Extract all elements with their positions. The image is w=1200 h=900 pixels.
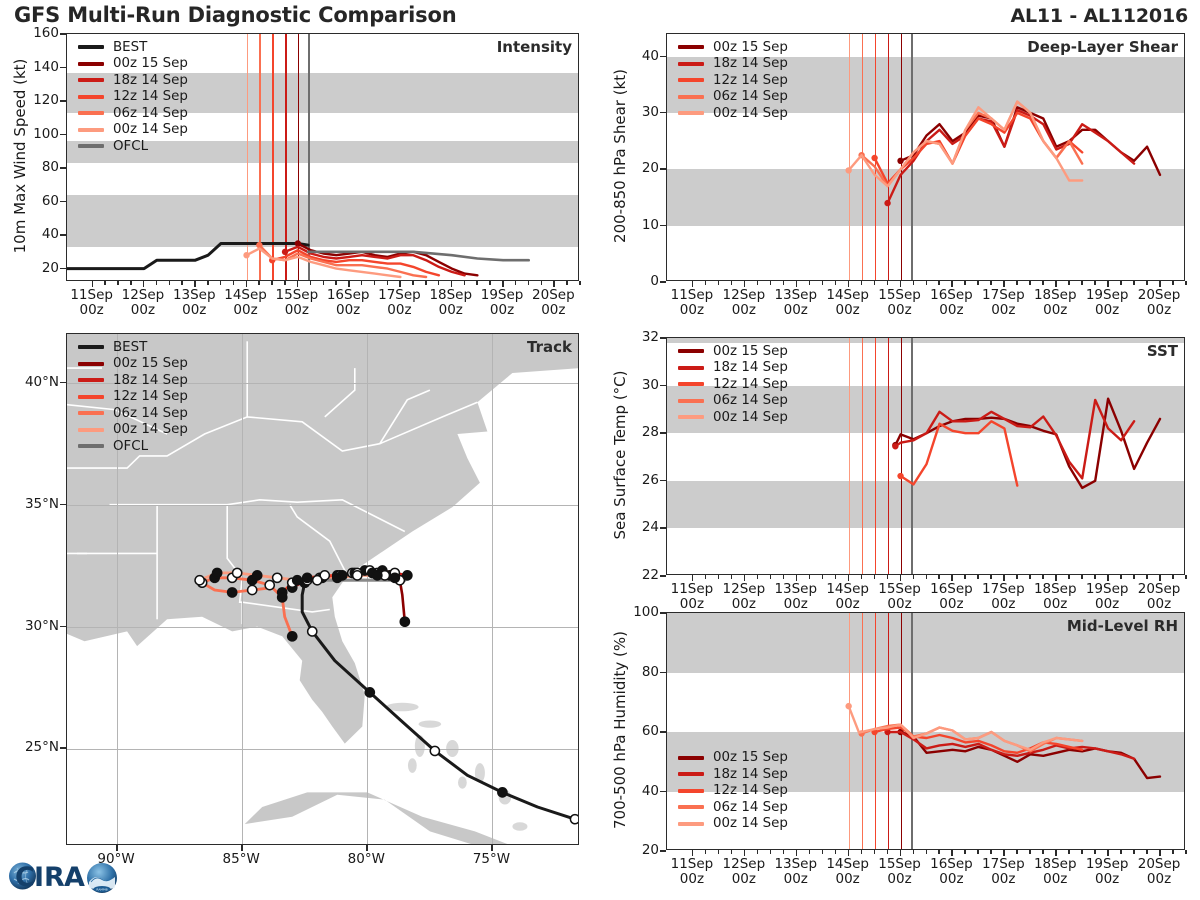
x-axis-minor-tick — [1016, 281, 1018, 285]
legend-label: 00z 14 Sep — [713, 106, 788, 121]
latitude-label: 30°N — [25, 618, 59, 634]
x-axis-hour-label: 00z — [1034, 597, 1077, 612]
series-line — [895, 400, 1134, 479]
x-axis-minor-tick — [783, 575, 785, 579]
legend-label: 00z 14 Sep — [713, 816, 788, 831]
series-line — [259, 245, 426, 277]
track-point-00z — [373, 571, 382, 580]
x-axis-minor-tick — [1029, 575, 1031, 579]
x-axis-tick-label: 12Sep00z — [723, 288, 766, 318]
x-axis-minor-tick — [464, 281, 466, 285]
x-axis-minor-tick — [977, 850, 979, 854]
x-axis-minor-tick — [887, 281, 889, 285]
y-axis-tick — [660, 612, 666, 614]
x-axis-minor-tick — [770, 281, 772, 285]
legend-color-swatch — [78, 362, 104, 366]
x-axis-tick — [692, 850, 694, 856]
y-axis-tick-label: 20 — [642, 160, 659, 176]
x-axis-minor-tick — [718, 850, 720, 854]
x-axis-minor-tick — [874, 850, 876, 854]
x-axis-date-label: 13Sep — [774, 857, 817, 872]
legend-label: 18z 14 Sep — [113, 373, 188, 388]
y-axis-tick — [660, 337, 666, 339]
x-axis-minor-tick — [1133, 850, 1135, 854]
x-axis-hour-label: 00z — [1086, 303, 1129, 318]
x-axis-tick — [900, 575, 902, 581]
x-axis-date-label: 13Sep — [774, 582, 817, 597]
x-axis-minor-tick — [258, 281, 260, 285]
x-axis-tick-label: 17Sep00z — [982, 857, 1025, 887]
x-axis-tick-label: 15Sep00z — [878, 857, 921, 887]
legend-item: BEST — [78, 39, 188, 56]
latitude-gridline — [67, 383, 578, 384]
series-layer — [667, 34, 1185, 281]
legend-color-swatch — [678, 382, 704, 386]
svg-text:A: A — [64, 862, 85, 893]
x-axis-tick — [1003, 281, 1005, 287]
x-axis-tick — [553, 281, 555, 287]
track-point-12z — [353, 571, 362, 580]
y-axis-tick-label: 80 — [42, 159, 59, 175]
x-axis-tick-label: 18Sep00z — [1034, 582, 1077, 612]
series-start-marker — [871, 155, 877, 161]
bahamas-island — [419, 720, 442, 727]
legend-color-swatch — [678, 399, 704, 403]
series-line — [308, 252, 529, 260]
legend-item: 12z 14 Sep — [78, 389, 188, 406]
page-title: GFS Multi-Run Diagnostic Comparison — [14, 3, 456, 27]
x-axis-hour-label: 00z — [1034, 872, 1077, 887]
x-axis-tick — [399, 281, 401, 287]
x-axis-minor-tick — [1068, 850, 1070, 854]
state-border — [380, 390, 430, 444]
x-axis-tick-label: 20Sep00z — [1138, 288, 1181, 318]
x-axis-minor-tick — [1120, 575, 1122, 579]
chart-legend: BEST00z 15 Sep18z 14 Sep12z 14 Sep06z 14… — [78, 339, 188, 455]
x-axis-tick — [1159, 575, 1161, 581]
x-axis-minor-tick — [705, 575, 707, 579]
state-border — [67, 402, 477, 468]
y-axis-tick-label: 100 — [33, 126, 59, 142]
state-border — [325, 368, 355, 417]
x-axis-tick-label: 15Sep00z — [878, 288, 921, 318]
y-axis-tick-label: 20 — [42, 260, 59, 276]
x-axis-tick — [744, 575, 746, 581]
x-axis-hour-label: 00z — [930, 303, 973, 318]
y-axis-tick — [660, 575, 666, 577]
longitude-gridline — [117, 334, 118, 844]
legend-item: 00z 15 Sep — [678, 39, 788, 56]
forecast-track-line — [292, 571, 407, 588]
x-axis-tick — [951, 850, 953, 856]
track-point-00z — [400, 617, 409, 626]
init-time-line — [888, 338, 890, 574]
track-point-12z — [335, 571, 344, 580]
x-axis-minor-tick — [1146, 575, 1148, 579]
forecast-track-line — [282, 573, 395, 593]
x-axis-hour-label: 00z — [774, 303, 817, 318]
x-axis-hour-label: 00z — [1138, 597, 1181, 612]
track-point-00z — [350, 568, 359, 577]
legend-color-swatch — [678, 805, 704, 809]
x-axis-minor-tick — [926, 575, 928, 579]
shear-panel-title: Deep-Layer Shear — [1027, 38, 1178, 56]
intensity-band — [67, 195, 578, 247]
x-axis-date-label: 12Sep — [723, 288, 766, 303]
series-line — [895, 399, 1160, 488]
svg-text:R: R — [44, 862, 65, 893]
x-axis-minor-tick — [156, 281, 158, 285]
bahamas-island — [415, 735, 425, 757]
x-axis-minor-tick — [809, 281, 811, 285]
latitude-gridline — [67, 749, 578, 750]
y-axis-tick — [660, 225, 666, 227]
legend-label: OFCL — [113, 439, 148, 454]
legend-item: 06z 14 Sep — [678, 393, 788, 410]
x-axis-tick-label: 14Sep00z — [826, 857, 869, 887]
x-axis-minor-tick — [990, 575, 992, 579]
x-axis-minor-tick — [705, 281, 707, 285]
legend-color-swatch — [678, 366, 704, 370]
x-axis-minor-tick — [476, 281, 478, 285]
x-axis-minor-tick — [310, 281, 312, 285]
x-axis-minor-tick — [990, 281, 992, 285]
legend-color-swatch — [78, 444, 104, 448]
series-line — [888, 110, 1135, 203]
x-axis-minor-tick — [1016, 575, 1018, 579]
x-axis-date-label: 14Sep — [224, 288, 267, 303]
x-axis-minor-tick — [783, 281, 785, 285]
x-axis-minor-tick — [938, 281, 940, 285]
x-axis-date-label: 13Sep — [173, 288, 216, 303]
x-axis-minor-tick — [861, 575, 863, 579]
y-axis-tick-label: 120 — [33, 92, 59, 108]
series-line — [901, 107, 1160, 175]
x-axis-tick — [1003, 575, 1005, 581]
x-axis-minor-tick — [1133, 575, 1135, 579]
panel-track: Track40°N35°N30°N25°N90°W85°W80°W75°WBES… — [0, 0, 1200, 900]
x-axis-hour-label: 00z — [671, 303, 714, 318]
series-line — [849, 102, 1083, 187]
x-axis-minor-tick — [541, 281, 543, 285]
x-axis-tick-label: 17Sep00z — [982, 582, 1025, 612]
chart-legend: 00z 15 Sep18z 14 Sep12z 14 Sep06z 14 Sep… — [678, 343, 788, 426]
x-axis-tick — [502, 281, 504, 287]
x-axis-hour-label: 00z — [878, 303, 921, 318]
x-axis-tick-label: 11Sep00z — [671, 582, 714, 612]
track-point-00z — [278, 588, 287, 597]
x-axis-tick-label: 13Sep00z — [774, 288, 817, 318]
y-axis-tick-label: 26 — [642, 472, 659, 488]
x-axis-tick — [744, 850, 746, 856]
x-axis-tick-label: 19Sep00z — [1086, 288, 1129, 318]
x-axis-minor-tick — [757, 575, 759, 579]
x-axis-tick-label: 12Sep00z — [122, 288, 165, 318]
longitude-tick — [241, 845, 243, 851]
y-axis-tick-label: 100 — [633, 604, 659, 620]
x-axis-tick-label: 16Sep00z — [930, 582, 973, 612]
y-axis-tick-label: 60 — [642, 723, 659, 739]
series-start-marker — [871, 729, 877, 735]
track-point-00z — [498, 788, 507, 797]
y-axis-tick-label: 30 — [642, 377, 659, 393]
track-point-00z — [293, 576, 302, 585]
x-axis-tick — [848, 281, 850, 287]
bahamas-island — [512, 822, 527, 831]
longitude-tick — [491, 845, 493, 851]
track-point-12z — [265, 581, 274, 590]
x-axis-tick — [92, 281, 94, 287]
track-point-00z — [288, 583, 297, 592]
track-point-00z — [368, 568, 377, 577]
series-start-marker — [858, 730, 864, 736]
x-axis-hour-label: 00z — [982, 597, 1025, 612]
x-axis-minor-tick — [528, 281, 530, 285]
x-axis-tick — [143, 281, 145, 287]
y-axis-tick-label: 30 — [642, 104, 659, 120]
init-time-line — [259, 34, 261, 280]
y-axis-tick — [60, 167, 66, 169]
series-line — [875, 113, 1083, 183]
legend-label: 18z 14 Sep — [113, 73, 188, 88]
bahamas-island — [499, 790, 512, 805]
x-axis-tick-label: 12Sep00z — [723, 857, 766, 887]
x-axis-tick-label: 18Sep00z — [429, 288, 472, 318]
x-axis-minor-tick — [731, 850, 733, 854]
state-border — [227, 505, 242, 624]
track-point-00z — [333, 571, 342, 580]
longitude-label-text: 75°W — [473, 852, 510, 867]
x-axis-tick-label: 20Sep00z — [1138, 582, 1181, 612]
series-line — [247, 249, 401, 278]
x-axis-minor-tick — [284, 281, 286, 285]
init-time-line — [298, 34, 300, 280]
intensity-band — [667, 481, 1184, 529]
x-axis-hour-label: 00z — [723, 303, 766, 318]
x-axis-tick — [900, 850, 902, 856]
longitude-gridline — [242, 334, 243, 844]
x-axis-tick — [451, 281, 453, 287]
y-axis-tick — [60, 67, 66, 69]
x-axis-minor-tick — [579, 281, 581, 285]
sst-panel-title: SST — [1147, 342, 1178, 360]
x-axis-date-label: 19Sep — [1086, 288, 1129, 303]
x-axis-minor-tick — [566, 281, 568, 285]
track-point-12z — [390, 568, 399, 577]
x-axis-date-label: 12Sep — [122, 288, 165, 303]
x-axis-tick-label: 20Sep00z — [1138, 857, 1181, 887]
y-axis-tick-label: 22 — [642, 567, 659, 583]
cuba-landmass — [245, 792, 513, 845]
x-axis-minor-tick — [770, 575, 772, 579]
x-axis-date-label: 19Sep — [1086, 582, 1129, 597]
x-axis-minor-tick — [770, 850, 772, 854]
y-axis-tick — [60, 134, 66, 136]
x-axis-date-label: 20Sep — [1138, 857, 1181, 872]
legend-color-swatch — [78, 78, 104, 82]
x-axis-tick — [951, 575, 953, 581]
series-start-marker — [884, 200, 890, 206]
x-axis-minor-tick — [964, 850, 966, 854]
track-lines-layer — [67, 334, 579, 845]
track-point-00z — [303, 573, 312, 582]
x-axis-minor-tick — [361, 281, 363, 285]
map-landmass — [67, 334, 579, 845]
init-time-line — [888, 613, 890, 849]
series-start-marker — [845, 167, 851, 173]
x-axis-date-label: 18Sep — [1034, 857, 1077, 872]
x-axis-hour-label: 00z — [122, 303, 165, 318]
longitude-tick — [366, 845, 368, 851]
x-axis-tick-label: 19Sep00z — [1086, 857, 1129, 887]
latitude-label: 40°N — [25, 374, 59, 390]
y-axis-tick — [60, 33, 66, 35]
bahamas-island — [446, 740, 459, 757]
x-axis-hour-label: 00z — [826, 872, 869, 887]
x-axis-minor-tick — [1016, 850, 1018, 854]
y-axis-tick — [660, 112, 666, 114]
x-axis-date-label: 15Sep — [878, 857, 921, 872]
init-time-line — [849, 613, 851, 849]
latitude-gridline — [67, 627, 578, 628]
x-axis-date-label: 17Sep — [982, 857, 1025, 872]
track-point-00z — [360, 566, 369, 575]
legend-color-swatch — [678, 789, 704, 793]
x-axis-tick-label: 14Sep00z — [224, 288, 267, 318]
panel-intensity: Intensity2040608010012014016010m Max Win… — [0, 0, 1200, 900]
x-axis-minor-tick — [964, 281, 966, 285]
x-axis-minor-tick — [822, 575, 824, 579]
x-axis-tick-label: 13Sep00z — [774, 582, 817, 612]
legend-label: BEST — [113, 40, 147, 55]
legend-item: 12z 14 Sep — [78, 89, 188, 106]
init-time-line — [888, 34, 890, 280]
x-axis-date-label: 14Sep — [826, 857, 869, 872]
x-axis-tick-label: 16Sep00z — [930, 288, 973, 318]
intensity-band — [667, 338, 1184, 343]
init-time-line — [911, 613, 913, 849]
x-axis-minor-tick — [1042, 850, 1044, 854]
x-axis-minor-tick — [913, 575, 915, 579]
track-point-12z — [570, 815, 579, 824]
legend-label: 12z 14 Sep — [113, 389, 188, 404]
x-axis-minor-tick — [990, 850, 992, 854]
x-axis-minor-tick — [1094, 850, 1096, 854]
legend-item: 00z 14 Sep — [78, 422, 188, 439]
x-axis-minor-tick — [809, 850, 811, 854]
x-axis-date-label: 20Sep — [1138, 582, 1181, 597]
x-axis-tick — [692, 281, 694, 287]
bahamas-island — [458, 777, 467, 789]
x-axis-tick — [1055, 281, 1057, 287]
x-axis-minor-tick — [731, 575, 733, 579]
legend-label: 06z 14 Sep — [713, 800, 788, 815]
x-axis-date-label: 13Sep — [774, 288, 817, 303]
x-axis-hour-label: 00z — [532, 303, 575, 318]
y-axis-tick — [660, 432, 666, 434]
x-axis-tick-label: 18Sep00z — [1034, 857, 1077, 887]
legend-label: 12z 14 Sep — [713, 377, 788, 392]
x-axis-minor-tick — [705, 850, 707, 854]
intensity-band — [67, 73, 578, 113]
legend-color-swatch — [78, 95, 104, 99]
y-axis-tick-label: 32 — [642, 329, 659, 345]
longitude-label: 80°W — [348, 852, 385, 867]
x-axis-minor-tick — [104, 281, 106, 285]
legend-label: 00z 14 Sep — [113, 122, 188, 137]
x-axis-hour-label: 00z — [774, 872, 817, 887]
legend-item: OFCL — [78, 138, 188, 155]
x-axis-tick-label: 19Sep00z — [1086, 582, 1129, 612]
intensity-plot-area: Intensity — [66, 33, 579, 281]
legend-color-swatch — [678, 415, 704, 419]
x-axis-tick-label: 16Sep00z — [327, 288, 370, 318]
x-axis-tick — [1055, 850, 1057, 856]
series-line — [901, 421, 1018, 485]
track-panel-title: Track — [527, 338, 572, 356]
x-axis-hour-label: 00z — [173, 303, 216, 318]
init-time-line — [862, 613, 864, 849]
x-axis-minor-tick — [1068, 281, 1070, 285]
track-point-12z — [313, 576, 322, 585]
x-axis-tick — [1159, 850, 1161, 856]
x-axis-minor-tick — [874, 281, 876, 285]
series-start-marker — [884, 729, 890, 735]
series-start-marker — [269, 257, 275, 263]
legend-label: 06z 14 Sep — [113, 106, 188, 121]
x-axis-tick — [848, 575, 850, 581]
x-axis-tick-label: 19Sep00z — [481, 288, 524, 318]
legend-color-swatch — [78, 62, 104, 66]
x-axis-minor-tick — [220, 281, 222, 285]
x-axis-tick — [692, 575, 694, 581]
x-axis-date-label: 20Sep — [532, 288, 575, 303]
x-axis-minor-tick — [887, 575, 889, 579]
x-axis-tick-label: 18Sep00z — [1034, 288, 1077, 318]
shear-plot-area: Deep-Layer Shear — [666, 33, 1185, 281]
track-point-00z — [338, 571, 347, 580]
track-point-12z — [365, 566, 374, 575]
series-start-marker — [256, 242, 262, 248]
legend-color-swatch — [78, 428, 104, 432]
rh-plot-area: Mid-Level RH — [666, 612, 1185, 850]
legend-item: 06z 14 Sep — [78, 105, 188, 122]
x-axis-minor-tick — [913, 281, 915, 285]
track-point-00z — [390, 573, 399, 582]
svg-text:I: I — [34, 862, 44, 893]
legend-item: 00z 14 Sep — [678, 105, 788, 122]
x-axis-minor-tick — [117, 281, 119, 285]
x-axis-date-label: 19Sep — [481, 288, 524, 303]
legend-color-swatch — [678, 349, 704, 353]
track-map-area[interactable]: Track — [66, 333, 579, 845]
sst-plot-area: SST — [666, 337, 1185, 575]
init-time-line — [849, 338, 851, 574]
legend-color-swatch — [678, 78, 704, 82]
x-axis-tick — [1055, 575, 1057, 581]
track-point-00z — [228, 588, 237, 597]
track-point-00z — [365, 688, 374, 697]
y-axis-tick-label: 40 — [642, 48, 659, 64]
longitude-label-text: 80°W — [348, 852, 385, 867]
latitude-gridline — [67, 505, 578, 506]
x-axis-tick — [348, 281, 350, 287]
series-line — [888, 732, 1135, 759]
x-axis-date-label: 16Sep — [930, 582, 973, 597]
x-axis-tick-label: 12Sep00z — [723, 582, 766, 612]
track-point-12z — [195, 576, 204, 585]
x-axis-tick-label: 15Sep00z — [878, 582, 921, 612]
